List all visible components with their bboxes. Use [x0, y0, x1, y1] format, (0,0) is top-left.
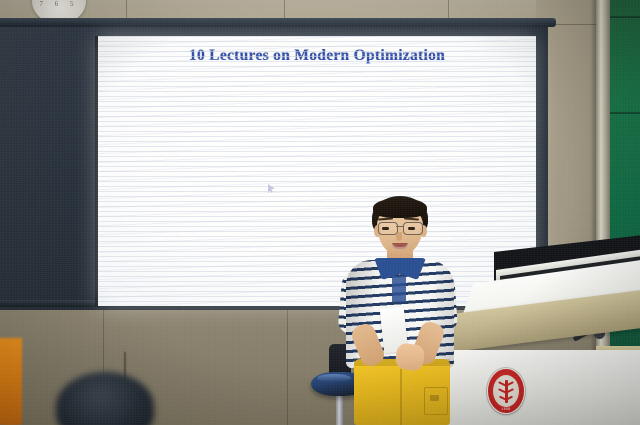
lecture-hall-photo: 7 6 5 10 Lectures on Modern Optimization	[0, 0, 640, 425]
speaker-figure	[330, 196, 460, 425]
screen-glow	[98, 36, 536, 306]
speaker-eye-left	[382, 227, 389, 230]
podium-body	[440, 350, 640, 425]
chalkboard-seam	[608, 112, 640, 114]
wall-panel-seam	[287, 306, 288, 425]
projection-screen: 10 Lectures on Modern Optimization	[98, 36, 536, 306]
speaker-nose	[396, 232, 402, 241]
speaker-hair-front	[373, 198, 427, 218]
clock-numerals: 7 6 5	[32, 0, 86, 8]
board-top-rail	[0, 18, 556, 27]
mouse-pointer-icon	[268, 184, 275, 193]
peking-university-seal-icon: 1898	[487, 368, 525, 414]
screen-scanline-artifact	[98, 36, 536, 306]
chalkboard-seam	[608, 16, 640, 18]
slide-title: 10 Lectures on Modern Optimization	[98, 47, 536, 65]
orange-foreground-object	[0, 338, 22, 425]
speaker-eye-right	[408, 227, 415, 230]
screen-scanline-artifact-fine	[98, 36, 536, 306]
speaker-shirt-placket	[392, 276, 406, 302]
seal-year: 1898	[487, 407, 525, 411]
